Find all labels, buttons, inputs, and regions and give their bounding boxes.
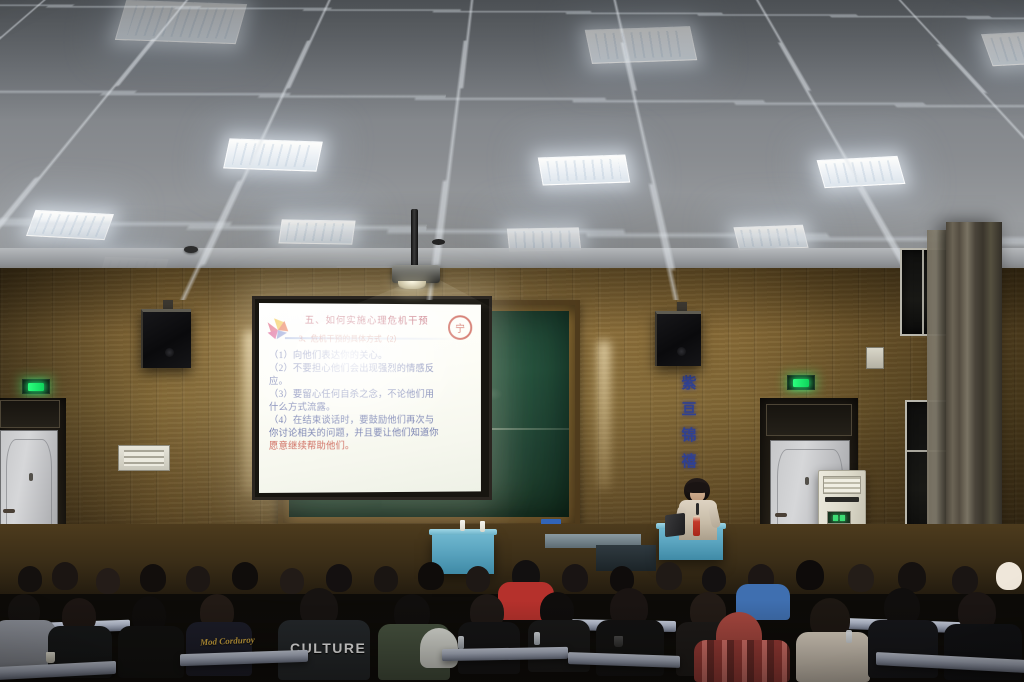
window-curtain [946,222,1002,560]
audience-seating: Mod Corduroy CULTURE [0,536,1024,682]
audience-head [18,566,42,592]
audience-head [702,566,726,592]
audience-torso [118,626,184,678]
calligraphy-char: 亘 [681,398,696,419]
cup [614,636,623,647]
pinwheel-decoration-icon [265,317,291,343]
slide-line: （4）在结束谈话时，要鼓励他们再次与 [269,415,473,428]
wall-speaker-left [141,309,191,368]
audience-head [280,568,304,594]
slide-body: （1）向他们表达你的关心。 （2）不要担心他们会出现强烈的情感反 应。 （3）要… [269,350,473,454]
student-desk [442,647,568,661]
exit-sign-left [22,379,50,394]
audience-head [52,562,78,590]
ac-display-slot [825,497,859,502]
wall-speaker-right [655,311,701,366]
slide-line: （2）不要担心他们会出现强烈的情感反 [269,363,473,376]
ac-louvers-icon [823,476,861,494]
left-door-transom [0,400,60,428]
calligraphy-char: 紫 [681,372,696,393]
slide-title: 五、如何实施心理危机干预 [305,312,473,327]
door-keyhole-icon [805,477,809,485]
audience-head [796,560,824,590]
red-bottle [693,516,700,536]
water-bottle [480,521,485,532]
water-bottle [460,520,465,531]
audience-head [418,562,444,590]
audience-head [186,566,210,592]
door-keyhole-icon [29,473,33,481]
water-bottle [534,632,540,645]
laptop [665,513,685,537]
audience-torso [796,632,870,682]
slide-subtitle: 3、危机干预的具体方式（2） [299,333,473,345]
water-bottle [846,630,852,643]
projection-screen: 宁 五、如何实施心理危机干预 3、危机干预的具体方式（2） （1）向他们表达你的… [252,296,492,500]
audience-torso [596,620,664,676]
slide-line: 什么方式流露。 [269,402,473,415]
audience-head [140,564,166,592]
audience-head [374,566,398,592]
slide-line: 应。 [269,376,473,389]
audience-torso-plaid [694,640,790,682]
right-door-transom [766,404,852,436]
audience-head [96,568,120,594]
presenter [673,478,723,540]
audience-head [562,564,588,592]
wall-calligraphy: 紫 亘 锦 禧 [676,372,702,471]
exit-sign-right [787,375,815,390]
presentation-slide: 宁 五、如何实施心理危机干预 3、危机干预的具体方式（2） （1）向他们表达你的… [259,303,481,493]
audience-head [466,566,490,592]
slide-line: （1）向他们表达你的关心。 [269,350,473,364]
projection-screen-surface: 宁 五、如何实施心理危机干预 3、危机干预的具体方式（2） （1）向他们表达你的… [259,303,481,493]
audience-head [232,562,258,590]
ac-led-indicator [827,511,851,524]
calligraphy-char: 锦 [681,424,696,445]
audience-head [656,562,682,590]
door-handle[interactable] [3,509,15,513]
wall-vent-panel [118,445,170,471]
wall-control-box[interactable] [866,347,884,369]
window-mullion [922,250,924,334]
water-bottle [458,636,464,649]
smoke-detector-icon [184,246,198,253]
audience-head [996,562,1022,590]
microphone-icon [696,503,699,515]
calligraphy-char: 禧 [681,450,696,471]
audience-torso [186,622,252,676]
smoke-detector-icon [432,239,445,245]
door-handle[interactable] [775,513,787,517]
presenter-fringe [686,482,709,493]
screen-right-glow [598,340,610,490]
lecture-hall-photo: 紫 亘 锦 禧 宁 [0,0,1024,682]
audience-head [848,564,874,592]
exit-sign-glow-icon [793,379,809,387]
exit-sign-glow-icon [28,383,44,391]
speaker-bracket [163,300,173,309]
speaker-bracket [677,302,687,311]
audience-head [952,566,978,594]
audience-torso [868,620,938,678]
slide-line: 你讨论相关的问题，并且要让他们知道你 [269,428,473,441]
slide-line: 愿意继续帮助他们。 [269,440,473,454]
audience-head [326,564,352,592]
projector-lens-icon [398,281,426,289]
slide-line: （3）要留心任何自杀之念，不论他们用 [269,389,473,402]
projector-mount-pole [411,209,418,271]
cup [46,652,55,663]
